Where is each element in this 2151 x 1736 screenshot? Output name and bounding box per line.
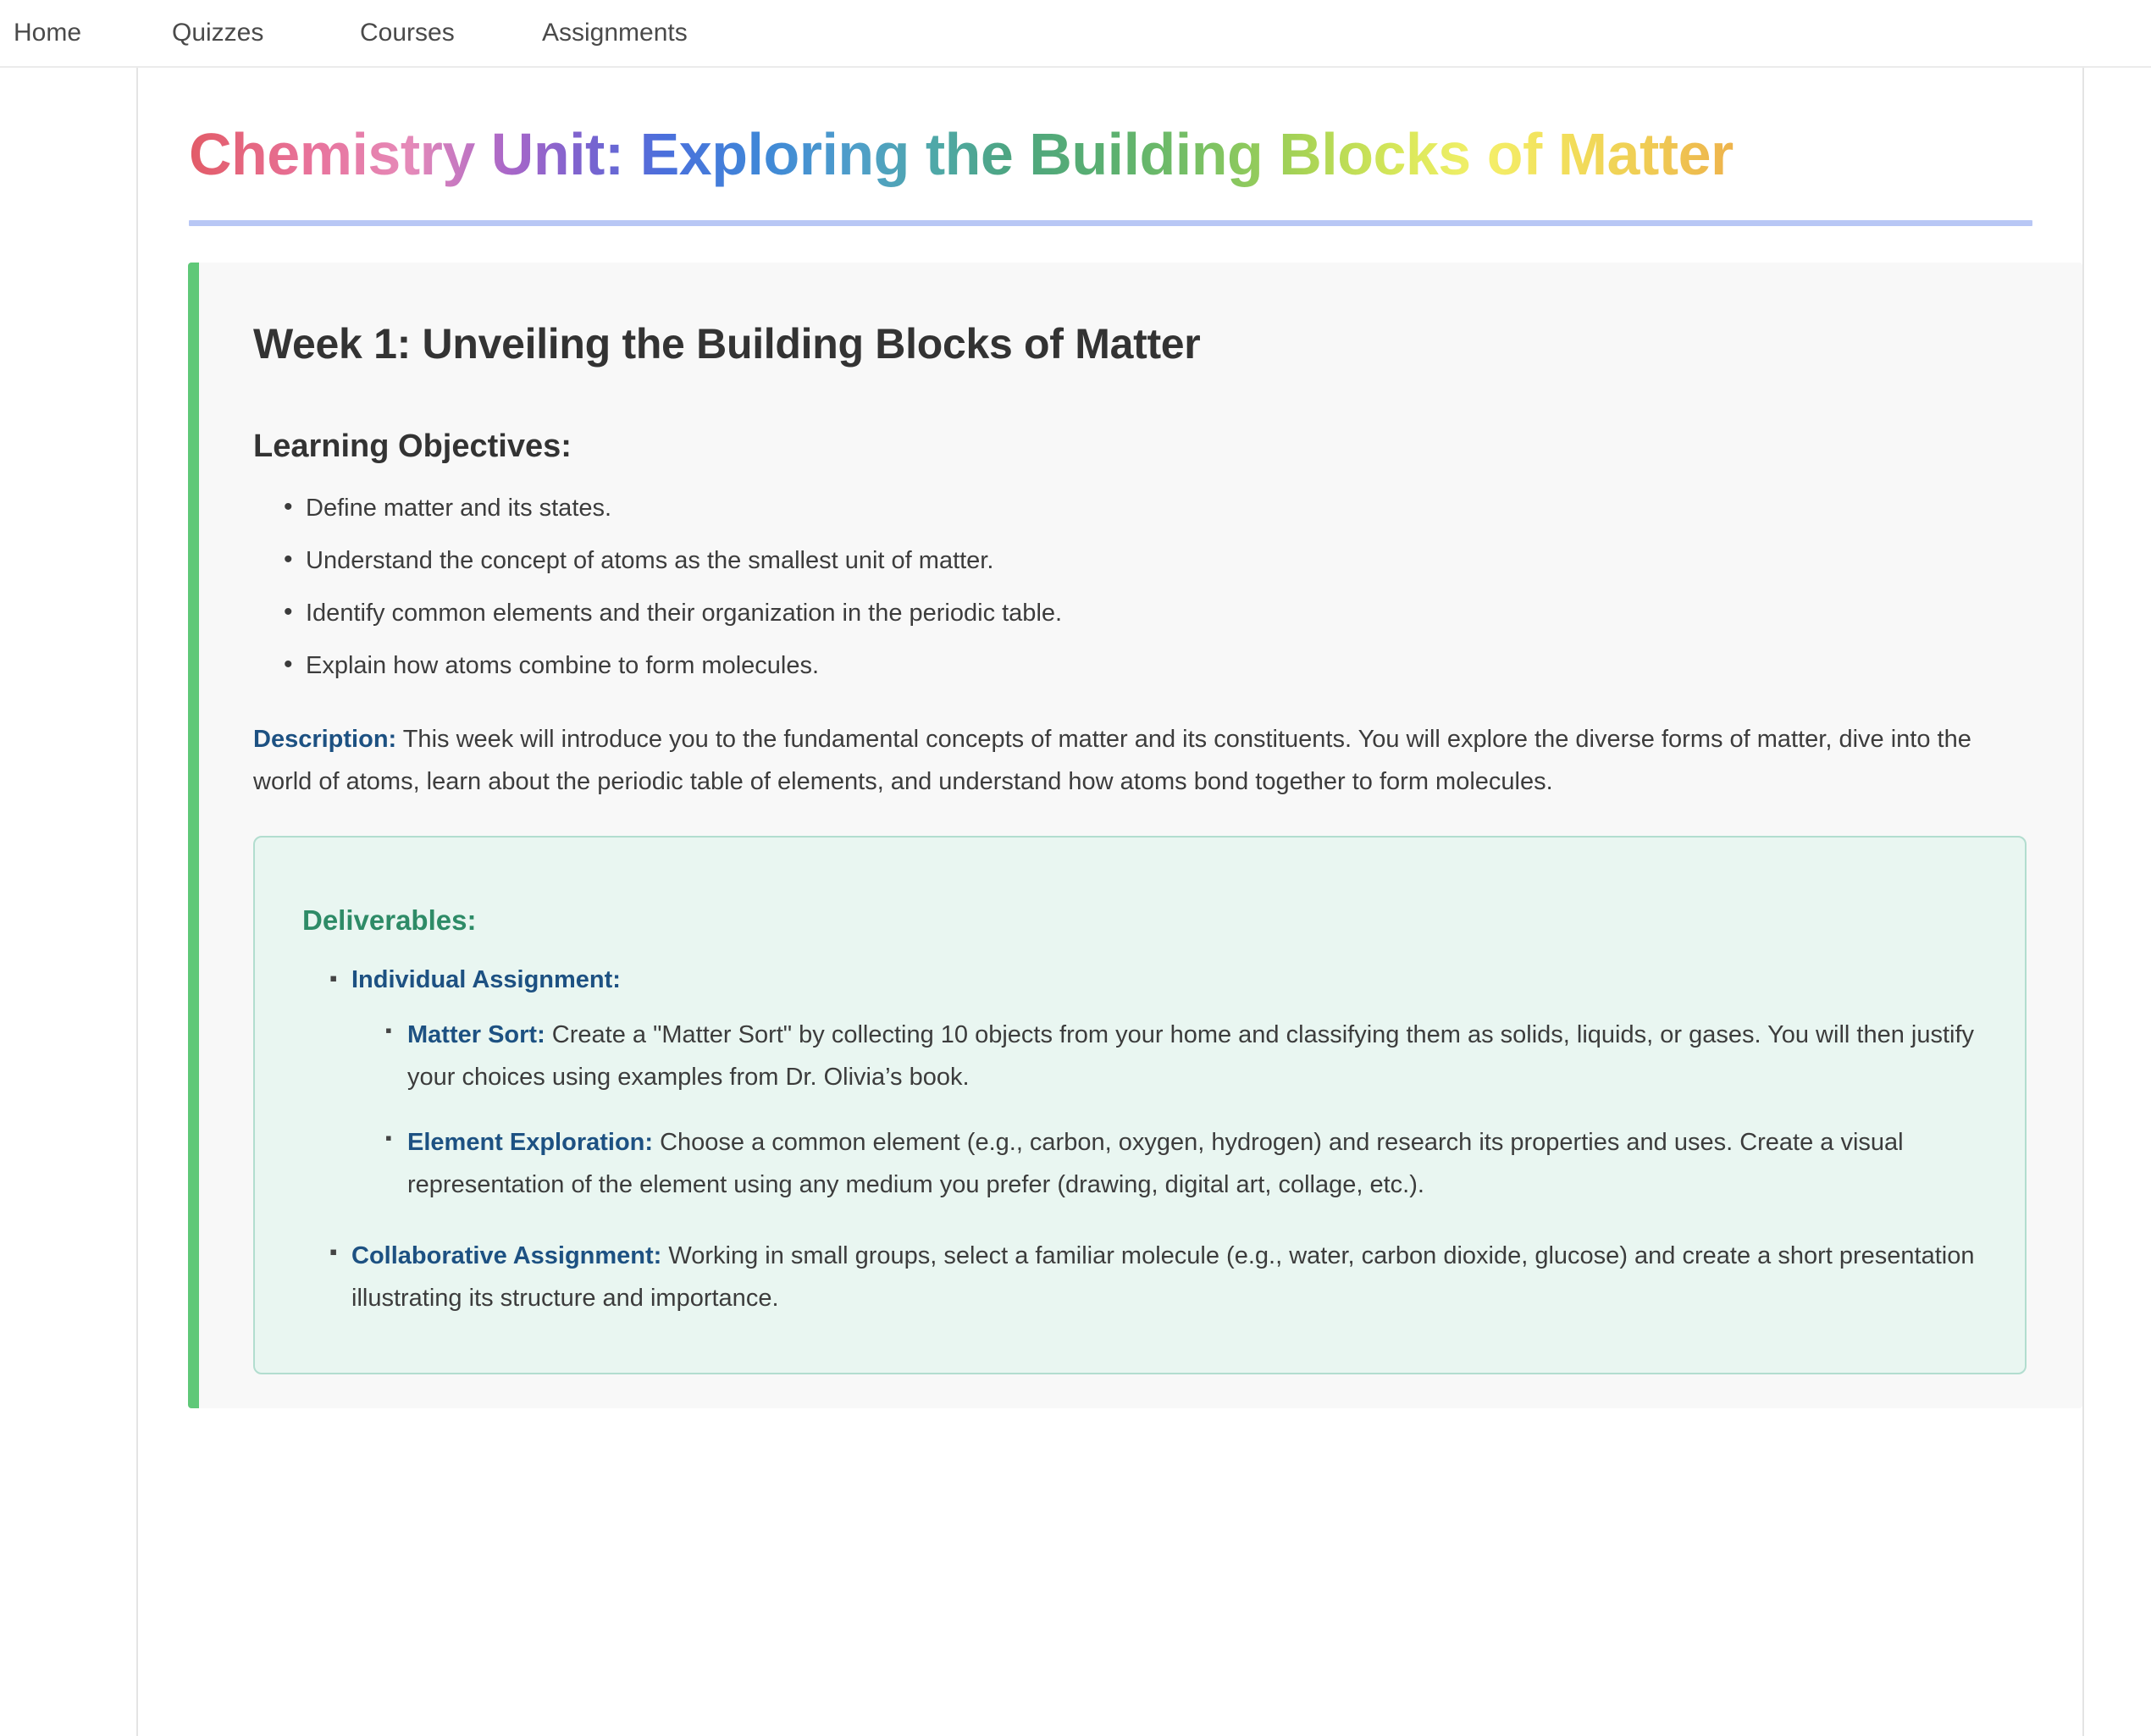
list-item: Element Exploration: Choose a common ele…: [385, 1122, 1982, 1207]
learning-objectives-heading: Learning Objectives:: [253, 428, 2015, 467]
week-heading: Week 1: Unveiling the Building Blocks of…: [253, 318, 2015, 369]
matter-sort-text: Create a "Matter Sort" by collecting 10 …: [407, 1021, 1974, 1091]
nav-item-courses[interactable]: Courses: [360, 12, 542, 54]
deliverables-list: Individual Assignment: Matter Sort: Crea…: [285, 962, 1982, 1320]
list-item: Understand the concept of atoms as the s…: [284, 542, 2015, 580]
title-divider: [189, 220, 2032, 226]
learning-objectives-list: Define matter and its states. Understand…: [253, 489, 2015, 685]
individual-assignment-sublist: Matter Sort: Create a "Matter Sort" by c…: [351, 1015, 1982, 1208]
right-rail-divider: [2082, 68, 2084, 1736]
list-item-individual-assignment: Individual Assignment: Matter Sort: Crea…: [329, 962, 1982, 1207]
nav-item-home[interactable]: Home: [7, 12, 172, 54]
week-card: Week 1: Unveiling the Building Blocks of…: [188, 263, 2082, 1408]
list-item-collaborative-assignment: Collaborative Assignment: Working in sma…: [329, 1236, 1982, 1320]
top-navigation: Home Quizzes Courses Assignments: [0, 0, 2151, 68]
nav-item-quizzes[interactable]: Quizzes: [172, 12, 360, 54]
list-item: Identify common elements and their organ…: [284, 594, 2015, 633]
list-item: Define matter and its states.: [284, 489, 2015, 528]
description-text: This week will introduce you to the fund…: [253, 726, 1971, 795]
individual-assignment-label: Individual Assignment:: [351, 966, 621, 993]
collaborative-assignment-label: Collaborative Assignment:: [351, 1242, 661, 1269]
list-item: Explain how atoms combine to form molecu…: [284, 647, 2015, 685]
description-paragraph: Description: This week will introduce yo…: [253, 719, 2015, 804]
main-content: Chemistry Unit: Exploring the Building B…: [138, 68, 2082, 1736]
deliverables-box: Deliverables: Individual Assignment: Mat…: [253, 836, 2027, 1374]
description-label: Description:: [253, 726, 396, 753]
page-frame: Chemistry Unit: Exploring the Building B…: [0, 68, 2151, 1736]
deliverables-title: Deliverables:: [285, 904, 1982, 937]
nav-item-assignments[interactable]: Assignments: [542, 12, 796, 54]
matter-sort-label: Matter Sort:: [407, 1021, 545, 1048]
element-exploration-label: Element Exploration:: [407, 1129, 653, 1156]
list-item: Matter Sort: Create a "Matter Sort" by c…: [385, 1015, 1982, 1099]
page-title: Chemistry Unit: Exploring the Building B…: [138, 68, 2082, 189]
